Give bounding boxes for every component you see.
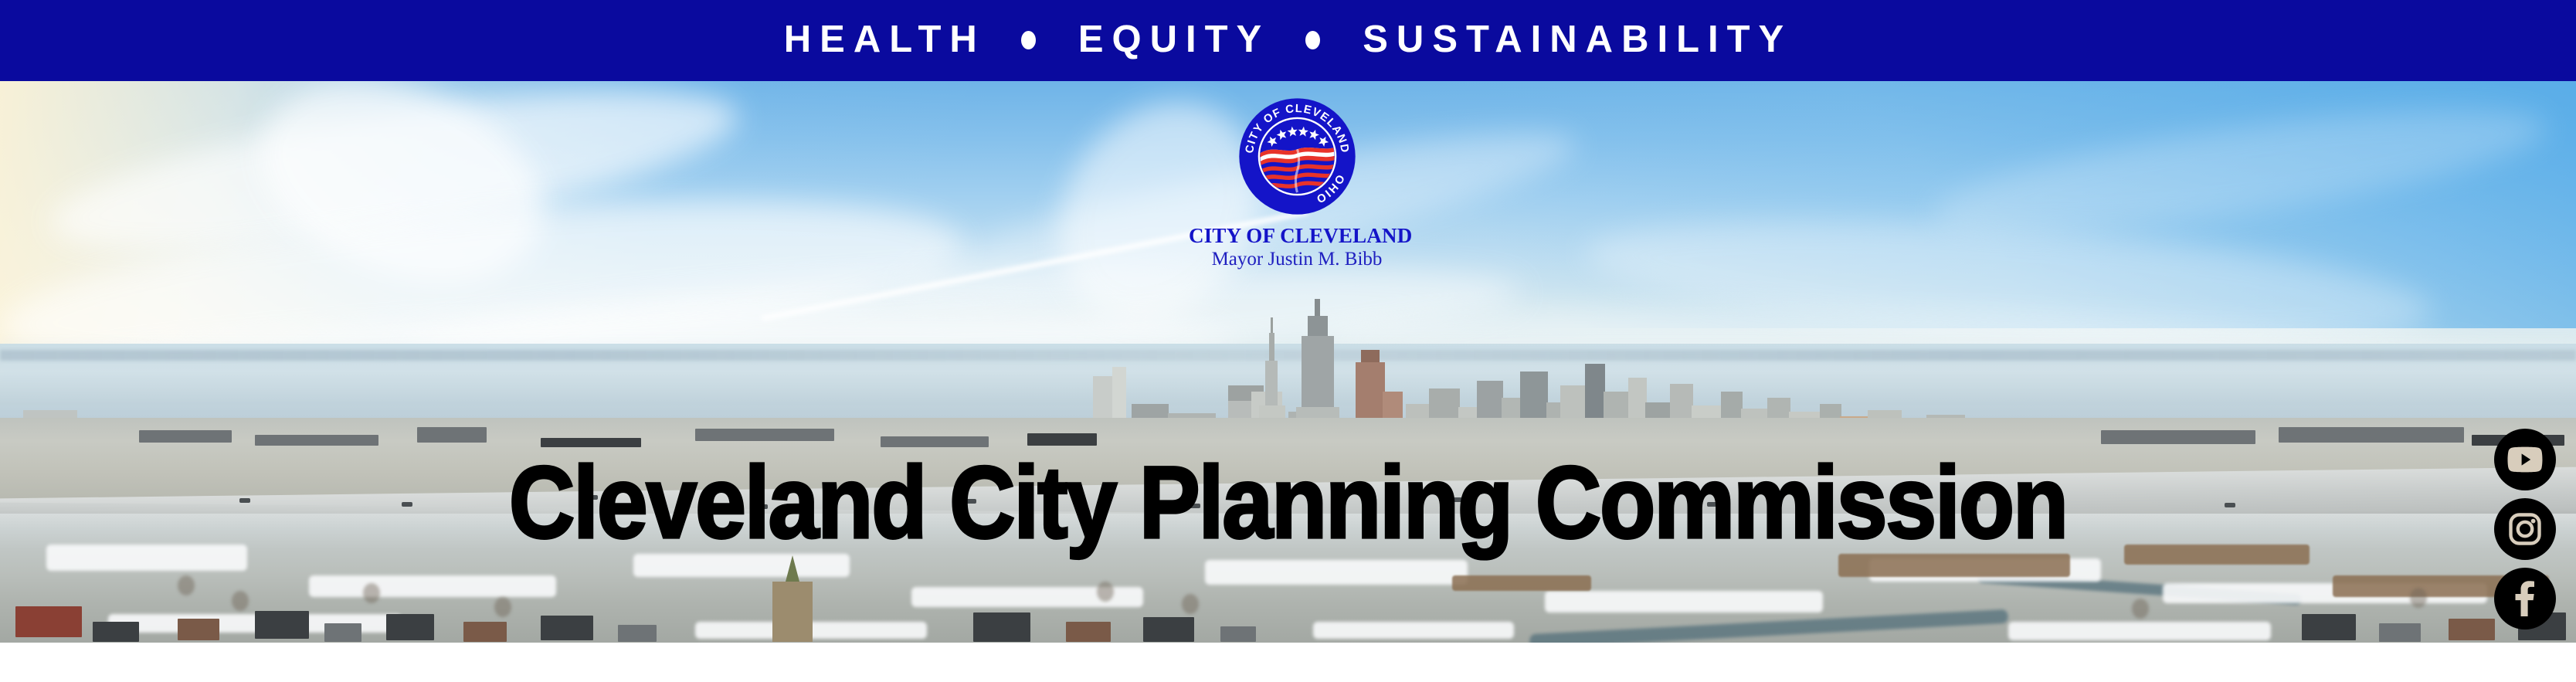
city-of-cleveland-seal-icon: CITY OF CLEVELAND OHIO	[1237, 97, 1357, 216]
instagram-icon	[2509, 513, 2541, 545]
slogan-bar: HEALTH EQUITY SUSTAINABILITY	[0, 0, 2576, 81]
facebook-icon	[2515, 581, 2535, 616]
city-logo-block[interactable]: CITY OF CLEVELAND OHIO CITY OF CLEVELAND…	[1189, 97, 1405, 270]
slogan-word-sustainability: SUSTAINABILITY	[1363, 21, 1792, 59]
social-link-youtube[interactable]	[2494, 429, 2556, 490]
youtube-icon	[2506, 446, 2544, 473]
social-link-facebook[interactable]	[2494, 568, 2556, 629]
logo-title: CITY OF CLEVELAND	[1189, 225, 1405, 246]
social-link-instagram[interactable]	[2494, 498, 2556, 560]
bottom-white-strip	[0, 643, 2576, 682]
slogan-separator-dot-1	[1021, 31, 1036, 49]
logo-subtitle-mayor: Mayor Justin M. Bibb	[1189, 249, 1405, 270]
social-links	[2494, 429, 2556, 629]
banner-root: HEALTH EQUITY SUSTAINABILITY	[0, 0, 2576, 682]
slogan-separator-dot-2	[1305, 31, 1320, 49]
slogan-word-equity: EQUITY	[1078, 21, 1270, 59]
page-title: Cleveland City Planning Commission	[0, 452, 2576, 554]
slogan-word-health: HEALTH	[784, 21, 986, 59]
slogan-inner: HEALTH EQUITY SUSTAINABILITY	[784, 21, 1792, 59]
